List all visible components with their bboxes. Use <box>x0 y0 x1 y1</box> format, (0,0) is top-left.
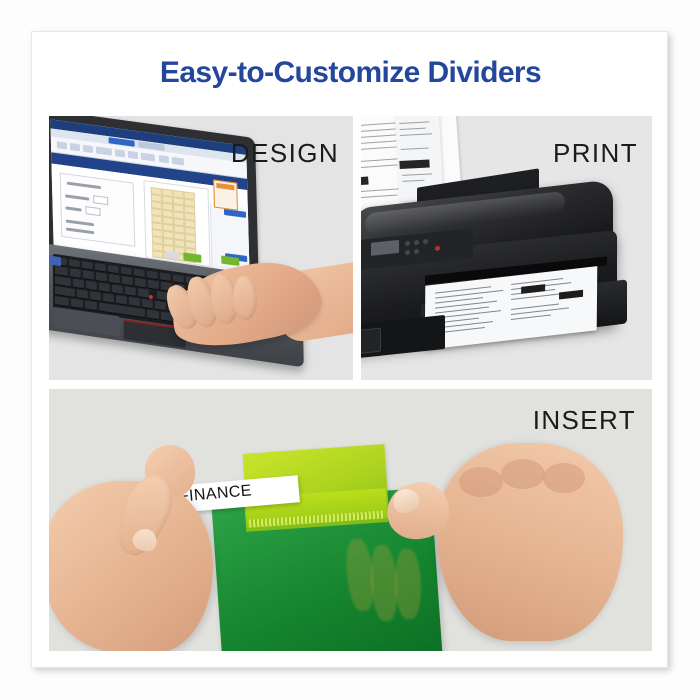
ribbon-button <box>115 149 125 157</box>
product-image-card: Easy-to-Customize Dividers <box>31 31 668 668</box>
ribbon-button <box>159 155 169 163</box>
ribbon-button <box>70 143 80 151</box>
step-label-print: PRINT <box>553 138 638 169</box>
ribbon-button <box>83 145 93 153</box>
form-input[interactable] <box>93 195 108 205</box>
form-label <box>65 194 89 200</box>
form-label <box>66 219 94 226</box>
printer-button[interactable] <box>414 240 419 246</box>
trackpoint-nub[interactable] <box>149 295 153 300</box>
printer-button[interactable] <box>423 239 428 245</box>
options-form <box>60 173 136 247</box>
panel-print: PRINT <box>361 116 652 380</box>
screenshot-root: Easy-to-Customize Dividers <box>0 0 700 700</box>
laptop-hinge-badge <box>49 255 61 267</box>
panel-insert: FINANCE INSERT <box>49 389 652 651</box>
knuckle <box>543 463 585 493</box>
printer-button[interactable] <box>405 250 410 256</box>
printer-display <box>371 240 399 256</box>
page-title: Easy-to-Customize Dividers <box>32 56 669 90</box>
printer-power-button[interactable] <box>435 246 440 252</box>
label-tab-mark <box>559 290 583 300</box>
label-tab-mark <box>521 284 545 294</box>
ribbon-button <box>128 151 138 159</box>
ink-cartridge-door[interactable] <box>361 328 381 355</box>
printer-button[interactable] <box>405 241 410 247</box>
ribbon-button <box>57 141 67 149</box>
panel-design: DESIGN <box>49 116 353 380</box>
form-heading <box>67 182 101 190</box>
form-input[interactable] <box>85 206 100 216</box>
step-label-insert: INSERT <box>533 405 636 436</box>
template-thumbnail[interactable] <box>213 179 238 210</box>
knuckle <box>459 467 503 497</box>
ribbon-button <box>172 157 184 166</box>
form-label <box>66 227 94 234</box>
step-label-design: DESIGN <box>231 138 339 169</box>
label-grid <box>151 187 203 260</box>
printer-front-base <box>361 315 445 359</box>
printer-button[interactable] <box>414 249 419 255</box>
knuckle <box>501 459 545 489</box>
form-label <box>66 206 82 211</box>
